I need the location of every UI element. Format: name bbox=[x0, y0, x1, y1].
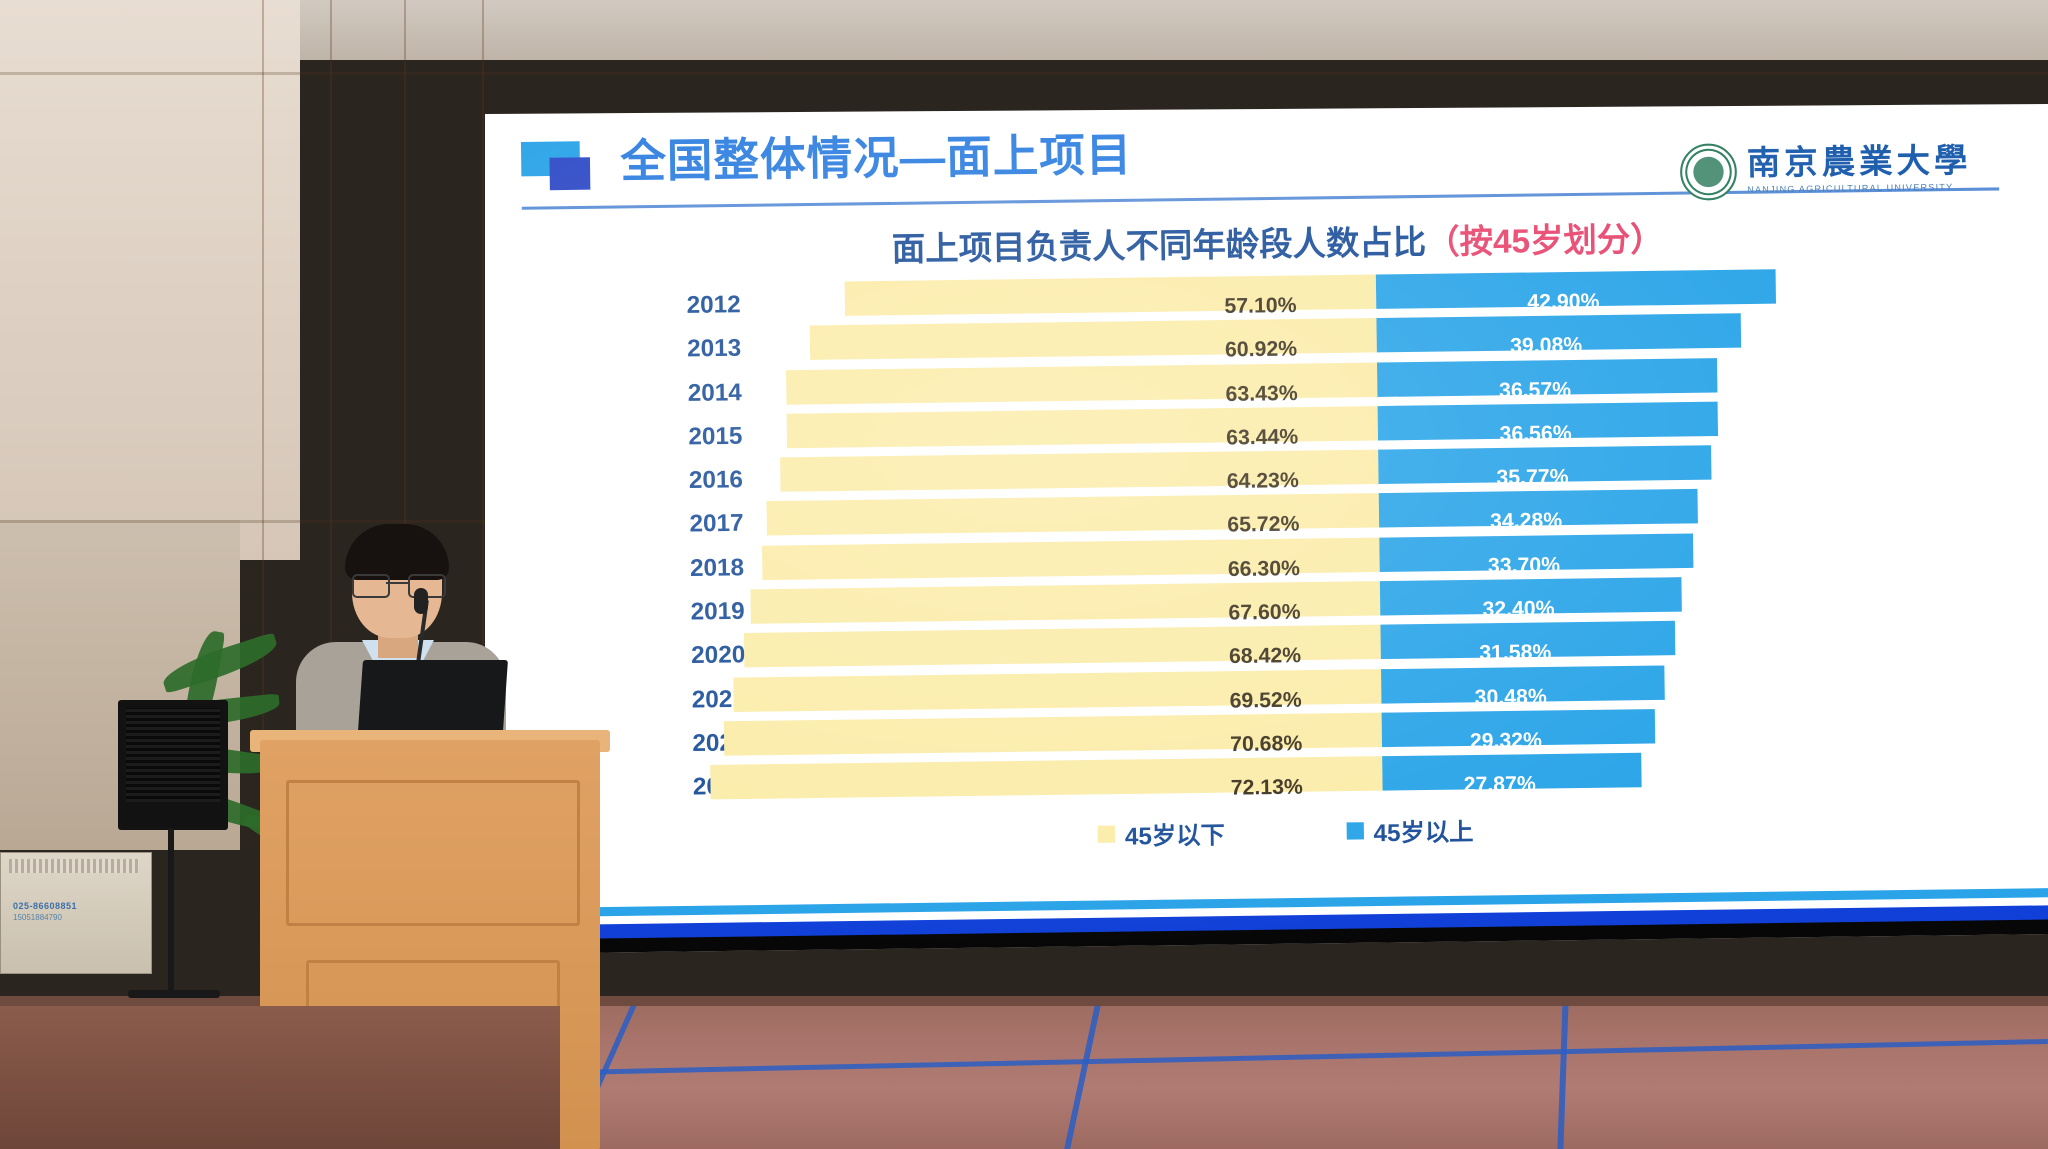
bar-value-under45: 70.68% bbox=[1230, 732, 1302, 757]
projection-screen: 全国整体情况—面上项目 南京農業大學 NANJING AGRICULTURAL … bbox=[485, 104, 2048, 954]
av-case-phone-2: 15051884790 bbox=[13, 913, 62, 922]
bar-value-under45: 69.52% bbox=[1229, 688, 1301, 713]
university-seal-icon bbox=[1680, 143, 1737, 200]
bar-value-over45: 39.08% bbox=[1510, 334, 1582, 359]
bar-value-under45: 68.42% bbox=[1229, 644, 1301, 669]
bar-value-under45: 63.43% bbox=[1225, 381, 1297, 406]
yellow-square-icon bbox=[1097, 825, 1114, 842]
blue-squares-logo-icon bbox=[521, 141, 601, 191]
bar-value-over45: 30.48% bbox=[1475, 685, 1547, 710]
wall-ceiling-band bbox=[0, 0, 2048, 60]
slide-title: 全国整体情况—面上项目 bbox=[620, 118, 1133, 190]
bar-year-label: 2015 bbox=[621, 422, 743, 452]
photo-scene: 全国整体情况—面上项目 南京農業大學 NANJING AGRICULTURAL … bbox=[0, 0, 2048, 1149]
presentation-slide: 全国整体情况—面上项目 南京農業大學 NANJING AGRICULTURAL … bbox=[485, 83, 2048, 964]
bar-year-label: 2013 bbox=[620, 335, 742, 365]
speaker-stand-base bbox=[128, 990, 220, 998]
av-equipment-case: 025-86608851 15051884790 bbox=[0, 852, 152, 974]
chart-legend: 45岁以下45岁以上 bbox=[494, 804, 2048, 860]
bar-value-over45: 29.32% bbox=[1470, 729, 1542, 754]
bar-year-label: 2019 bbox=[623, 598, 745, 628]
bar-year-label: 2021 bbox=[624, 685, 746, 715]
chart-heading: 面上项目负责人不同年龄段人数占比（按45岁划分） bbox=[487, 207, 2048, 276]
pa-speaker bbox=[118, 700, 228, 830]
bar-value-over45: 31.58% bbox=[1479, 641, 1551, 666]
bar-value-over45: 35.77% bbox=[1496, 465, 1568, 490]
bar-value-over45: 34.28% bbox=[1490, 509, 1562, 534]
bar-value-over45: 42.90% bbox=[1527, 290, 1599, 315]
wall-horizontal-seam bbox=[0, 520, 500, 523]
legend-label: 45岁以上 bbox=[1373, 812, 1473, 849]
presenter-hair bbox=[345, 524, 449, 580]
legend-label: 45岁以下 bbox=[1125, 815, 1225, 852]
legend-item: 45岁以上 bbox=[1346, 812, 1474, 849]
bar-value-under45: 64.23% bbox=[1227, 469, 1299, 494]
blue-square-icon bbox=[1346, 822, 1363, 839]
bar-year-label: 2012 bbox=[619, 291, 741, 321]
bar-value-over45: 36.56% bbox=[1499, 422, 1571, 447]
bar-value-under45: 72.13% bbox=[1231, 776, 1303, 801]
podium-panel-upper bbox=[286, 780, 580, 926]
bar-value-over45: 32.40% bbox=[1482, 597, 1554, 622]
glasses-icon bbox=[352, 574, 444, 594]
university-logo: 南京農業大學 NANJING AGRICULTURAL UNIVERSITY bbox=[1680, 137, 1984, 204]
bar-value-under45: 60.92% bbox=[1225, 338, 1297, 363]
bar-year-label: 2017 bbox=[622, 510, 744, 540]
bar-value-over45: 33.70% bbox=[1488, 553, 1560, 578]
stacked-bar-chart: 201257.10%42.90%201360.92%39.08%201463.4… bbox=[619, 267, 1951, 811]
bar-year-label: 2016 bbox=[621, 466, 743, 496]
bar-value-under45: 66.30% bbox=[1228, 557, 1300, 582]
speaker-stand bbox=[168, 828, 174, 998]
bar-year-label: 2014 bbox=[620, 379, 742, 409]
bar-value-over45: 36.57% bbox=[1499, 378, 1571, 403]
bar-year-label: 2018 bbox=[622, 554, 744, 584]
bar-value-over45: 27.87% bbox=[1464, 773, 1536, 798]
university-name-en: NANJING AGRICULTURAL UNIVERSITY bbox=[1747, 183, 1972, 195]
bar-value-under45: 67.60% bbox=[1228, 600, 1300, 625]
legend-item: 45岁以下 bbox=[1097, 815, 1225, 852]
stage-front-face bbox=[0, 1006, 560, 1149]
bar-value-under45: 65.72% bbox=[1227, 513, 1299, 538]
av-case-phone: 025-86608851 bbox=[13, 901, 77, 911]
chart-heading-highlight: （按45岁划分） bbox=[1426, 220, 1664, 261]
wall-horizontal-seam bbox=[0, 72, 2048, 75]
chart-heading-main: 面上项目负责人不同年龄段人数占比 bbox=[892, 223, 1427, 267]
university-name-cn: 南京農業大學 bbox=[1747, 145, 1972, 181]
wall-left-light-panel bbox=[0, 0, 300, 560]
bar-year-label: 2020 bbox=[624, 641, 746, 671]
microphone-icon bbox=[414, 588, 428, 614]
bar-value-under45: 63.44% bbox=[1226, 425, 1298, 450]
bar-value-under45: 57.10% bbox=[1224, 294, 1296, 319]
